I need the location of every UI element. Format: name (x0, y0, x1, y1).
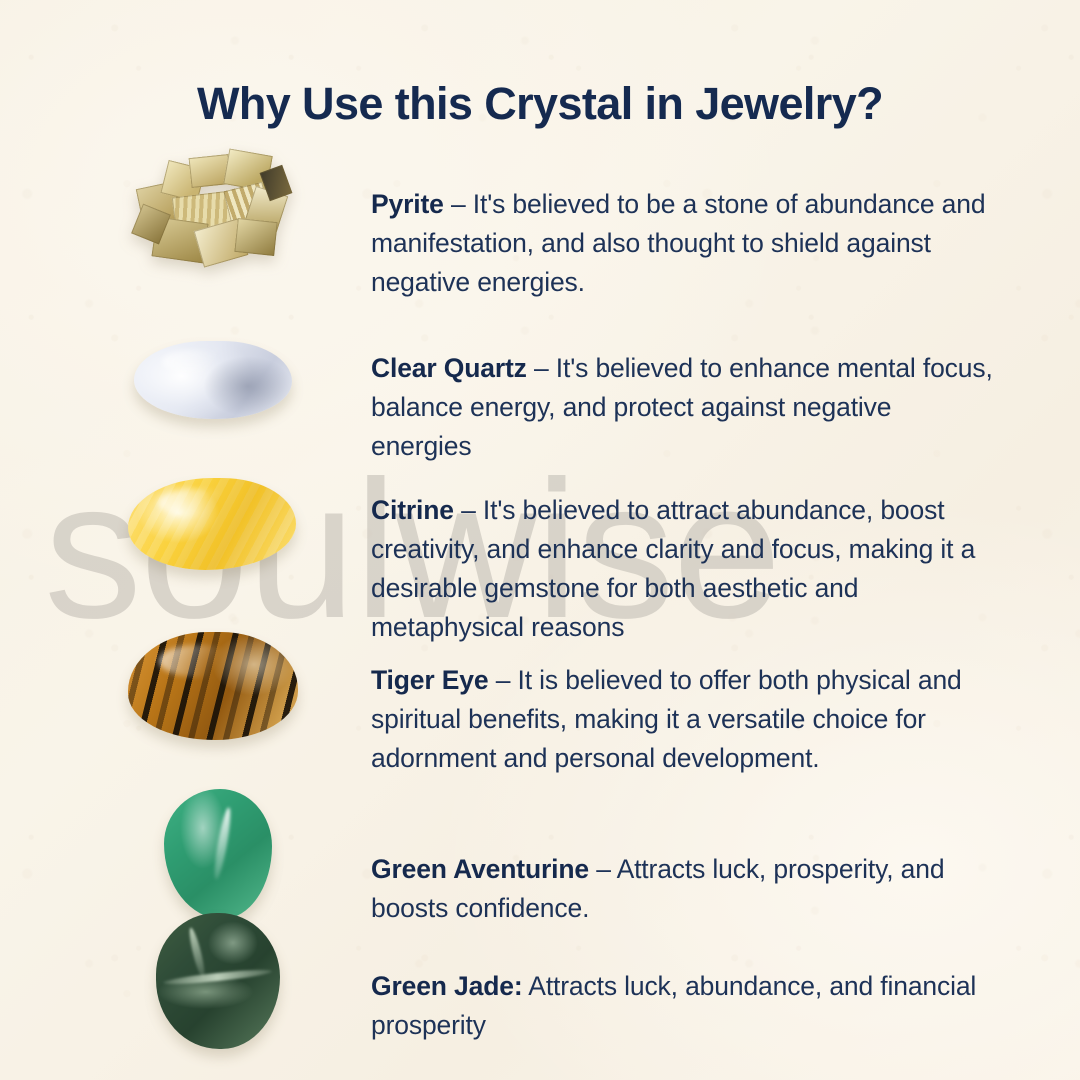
pyrite-cluster-icon (136, 150, 284, 268)
citrine-icon (128, 478, 296, 570)
entry-separator-green-aventurine: – (589, 854, 617, 884)
entry-separator-tiger-eye: – (488, 665, 517, 695)
entry-text-pyrite: Pyrite – It's believed to be a stone of … (371, 185, 996, 302)
stone-image-pyrite (120, 140, 320, 300)
stone-image-green-jade (120, 905, 320, 1065)
green-aventurine-icon (164, 789, 272, 919)
green-jade-icon (156, 913, 280, 1049)
entry-name-pyrite: Pyrite (371, 189, 444, 219)
stone-image-tiger-eye (120, 610, 320, 770)
entry-name-green-aventurine: Green Aventurine (371, 854, 589, 884)
entry-text-clear-quartz: Clear Quartz – It's believed to enhance … (371, 349, 996, 466)
page-title: Why Use this Crystal in Jewelry? (0, 78, 1080, 130)
entry-name-citrine: Citrine (371, 495, 454, 525)
clear-quartz-icon (134, 341, 292, 419)
entry-name-green-jade: Green Jade: (371, 971, 523, 1001)
entry-separator-citrine: – (454, 495, 483, 525)
entry-name-clear-quartz: Clear Quartz (371, 353, 527, 383)
entry-text-green-aventurine: Green Aventurine – Attracts luck, prospe… (371, 850, 996, 928)
stone-image-citrine (120, 448, 320, 608)
stone-image-clear-quartz (120, 303, 320, 463)
entry-text-tiger-eye: Tiger Eye – It is believed to offer both… (371, 661, 996, 778)
entry-separator-pyrite: – (444, 189, 473, 219)
entry-text-green-jade: Green Jade: Attracts luck, abundance, an… (371, 967, 996, 1045)
entry-text-citrine: Citrine – It's believed to attract abund… (371, 491, 996, 647)
entry-separator-clear-quartz: – (527, 353, 556, 383)
entry-name-tiger-eye: Tiger Eye (371, 665, 488, 695)
tiger-eye-icon (128, 632, 298, 740)
crystal-benefits-poster: soulwise Why Use this Crystal in Jewelry… (0, 0, 1080, 1080)
